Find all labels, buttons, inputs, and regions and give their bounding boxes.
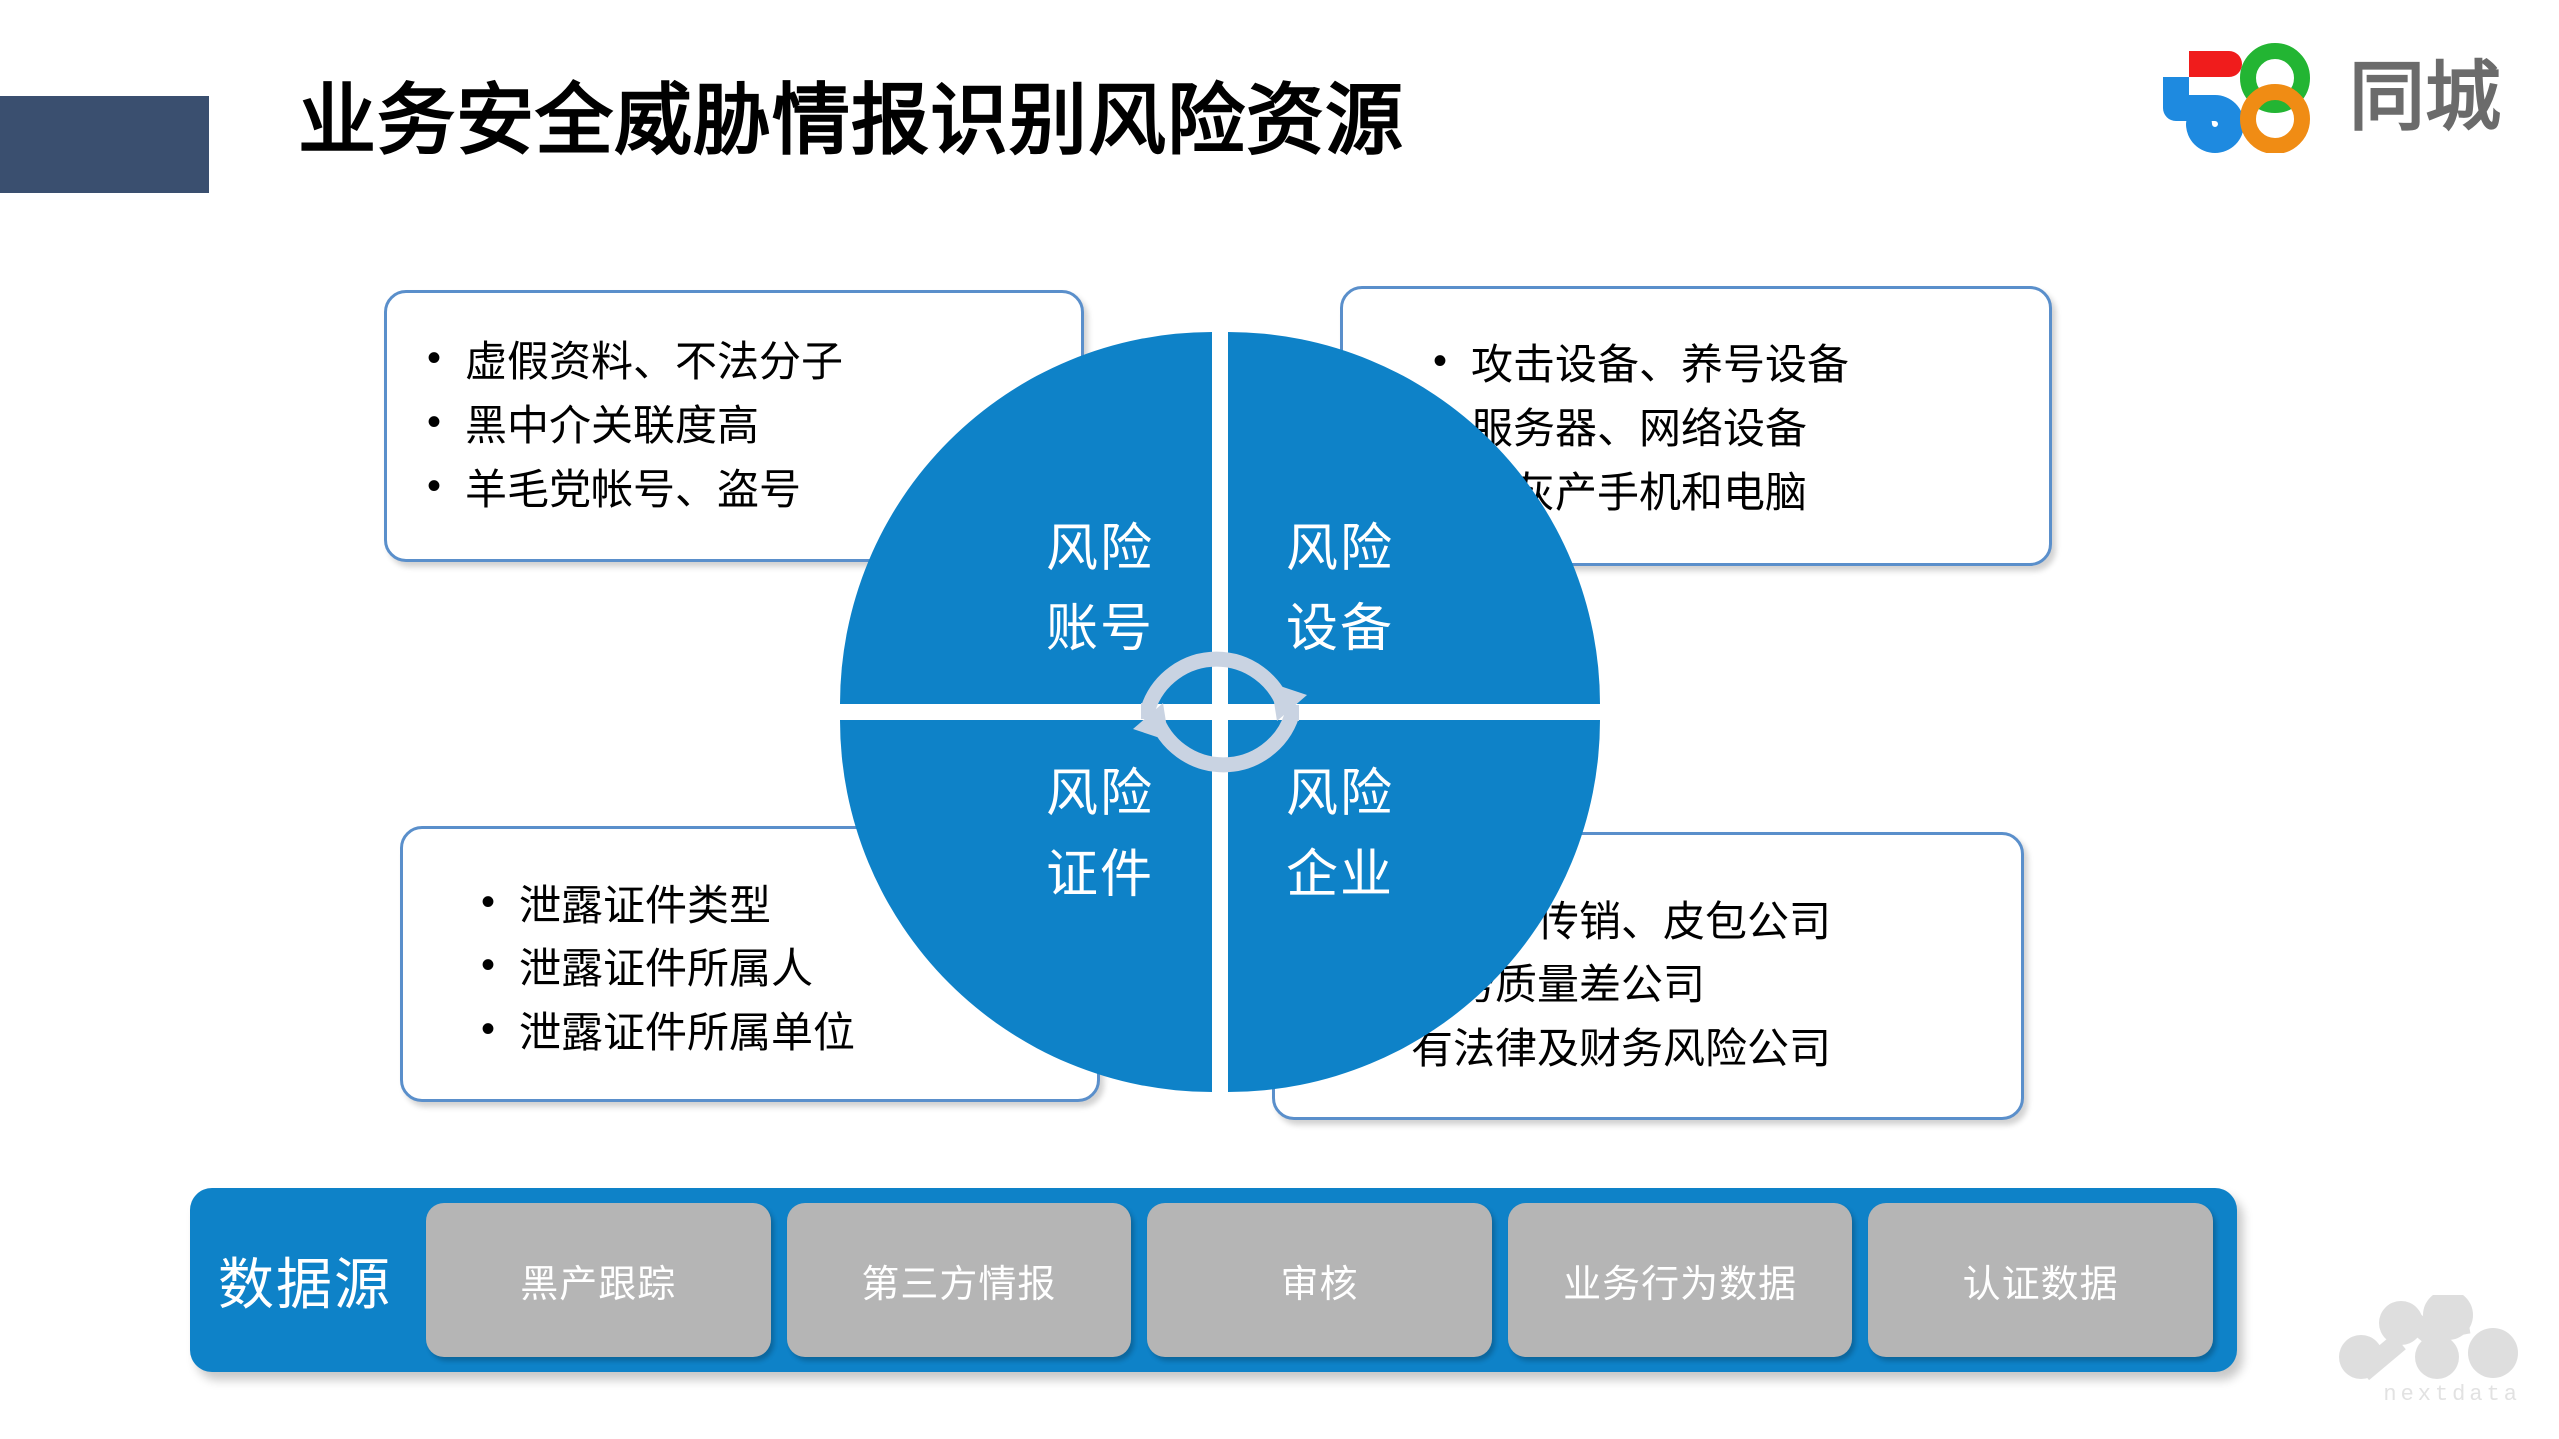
quadrant-label-line1: 风险 — [1286, 754, 1394, 835]
quadrant-label-line2: 设备 — [1286, 589, 1394, 670]
quadrant-label-line2: 企业 — [1286, 835, 1394, 916]
quadrant-label-line1: 风险 — [1286, 509, 1394, 590]
datasource-item-third-party-intel[interactable]: 第三方情报 — [787, 1203, 1132, 1357]
brand-58-mark — [2159, 43, 2335, 153]
risk-quadrant-circle: 风险 账号 风险 设备 风险 证件 风险 企业 — [840, 332, 1600, 1092]
datasource-item-business-behavior[interactable]: 业务行为数据 — [1508, 1203, 1853, 1357]
datasource-label: 数据源 — [190, 1240, 418, 1321]
quadrant-label-line1: 风险 — [1046, 509, 1154, 590]
quadrant-label-line2: 账号 — [1046, 589, 1154, 670]
page-title: 业务安全威胁情报识别风险资源 — [298, 78, 1404, 164]
quadrant-risk-device[interactable]: 风险 设备 — [1228, 332, 1600, 704]
datasource-item-audit[interactable]: 审核 — [1147, 1203, 1492, 1357]
quadrant-risk-id[interactable]: 风险 证件 — [840, 720, 1212, 1092]
datasource-bar: 数据源 黑产跟踪 第三方情报 审核 业务行为数据 认证数据 — [190, 1188, 2237, 1372]
header-accent-bar — [0, 96, 209, 193]
datasource-item-auth-data[interactable]: 认证数据 — [1868, 1203, 2213, 1357]
quadrant-label-line1: 风险 — [1046, 754, 1154, 835]
brand-logo-58tongcheng: 同城 — [2159, 42, 2501, 154]
brand-logo-text: 同城 — [2349, 60, 2501, 136]
datasource-item-heichanzongzong[interactable]: 黑产跟踪 — [426, 1203, 771, 1357]
nextdata-watermark-text: nextdata — [2383, 1382, 2521, 1407]
quadrant-risk-account[interactable]: 风险 账号 — [840, 332, 1212, 704]
quadrant-label-line2: 证件 — [1046, 835, 1154, 916]
quadrant-risk-company[interactable]: 风险 企业 — [1228, 720, 1600, 1092]
